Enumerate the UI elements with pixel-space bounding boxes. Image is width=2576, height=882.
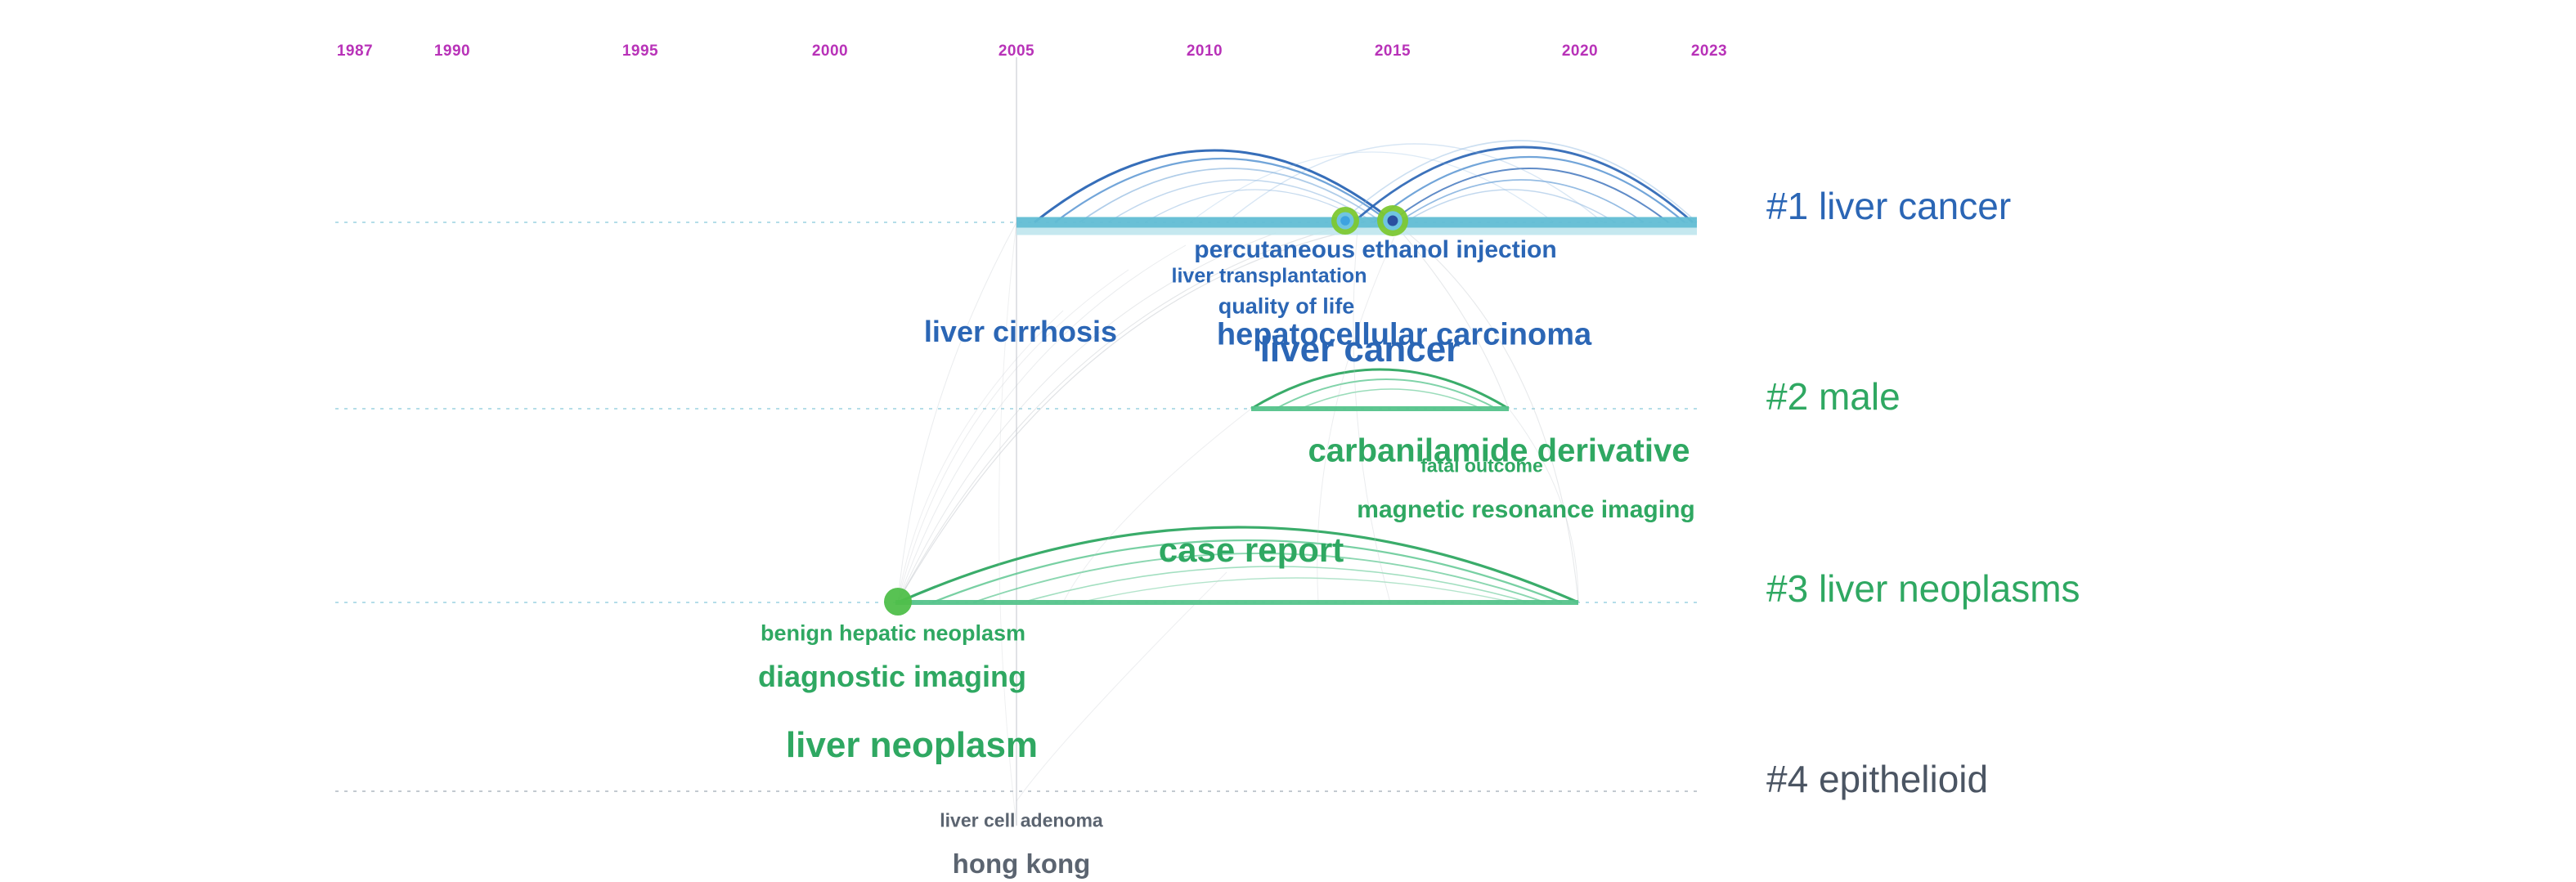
year-tick-2020: 2020 [1562, 43, 1598, 60]
term-label-case-report[interactable]: case report [1159, 531, 1344, 570]
cluster-label-3[interactable]: #3 liver neoplasms [1766, 566, 2080, 611]
cluster-label-2[interactable]: #2 male [1766, 374, 1901, 419]
timeline-canvas [0, 0, 2576, 882]
burst-node-a[interactable] [1331, 207, 1359, 235]
term-label-liver-cancer[interactable]: liver cancer [1260, 329, 1461, 370]
year-tick-1990: 1990 [434, 43, 470, 60]
term-label-liver-cirrhosis[interactable]: liver cirrhosis [924, 315, 1117, 349]
term-label-quality-of-life[interactable]: quality of life [1218, 294, 1355, 320]
term-label-percutaneous-ethanol-injection[interactable]: percutaneous ethanol injection [1194, 236, 1556, 264]
year-tick-2023: 2023 [1691, 43, 1727, 60]
year-tick-2015: 2015 [1375, 43, 1411, 60]
cluster-label-1[interactable]: #1 liver cancer [1766, 184, 2011, 228]
term-label-liver-cell-adenoma[interactable]: liver cell adenoma [940, 810, 1102, 832]
node-benign-hepatic-neoplasm[interactable] [884, 588, 912, 616]
year-tick-1995: 1995 [622, 43, 658, 60]
cluster-label-4[interactable]: #4 epithelioid [1766, 757, 1988, 801]
year-tick-2000: 2000 [812, 43, 848, 60]
term-label-benign-hepatic-neoplasm[interactable]: benign hepatic neoplasm [761, 621, 1025, 647]
year-tick-1987: 1987 [337, 43, 373, 60]
timeline-visualization: 198719901995200020052010201520202023 #1 … [0, 0, 2576, 882]
term-label-liver-transplantation[interactable]: liver transplantation [1172, 265, 1367, 289]
year-tick-2010: 2010 [1187, 43, 1223, 60]
term-label-fatal-outcome[interactable]: fatal outcome [1420, 455, 1543, 477]
term-label-magnetic-resonance-imaging[interactable]: magnetic resonance imaging [1357, 496, 1694, 524]
term-label-diagnostic-imaging[interactable]: diagnostic imaging [758, 660, 1026, 694]
term-label-liver-neoplasm[interactable]: liver neoplasm [786, 725, 1038, 766]
burst-node-b[interactable] [1377, 205, 1408, 236]
term-label-hong-kong[interactable]: hong kong [953, 848, 1091, 880]
year-tick-2005: 2005 [999, 43, 1034, 60]
